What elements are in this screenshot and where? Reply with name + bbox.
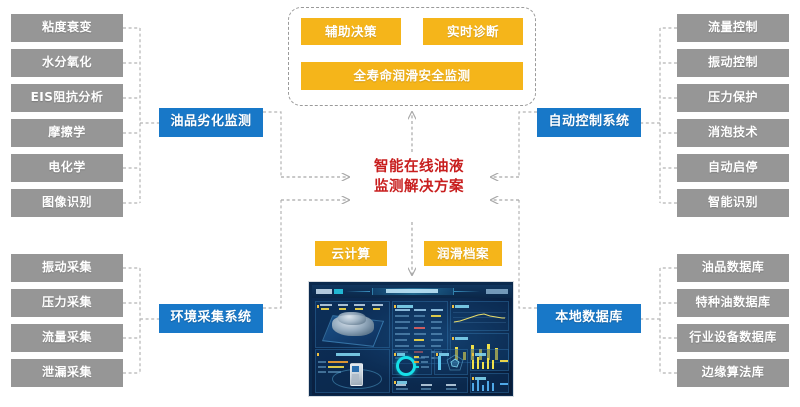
leaf-label: 水分氧化 xyxy=(42,56,92,69)
leaf-intelligent-recognition[interactable]: 智能识别 xyxy=(677,189,789,217)
radar-chart xyxy=(445,354,465,372)
leaf-label: 自动启停 xyxy=(708,161,758,174)
leaf-label: 泄漏采集 xyxy=(42,366,92,379)
chip-label: 实时诊断 xyxy=(447,25,499,39)
leaf-label: 流量采集 xyxy=(42,331,92,344)
summary-stats-values xyxy=(396,384,464,391)
leaf-label: 消泡技术 xyxy=(708,126,758,139)
leaf-industry-equipment-database[interactable]: 行业设备数据库 xyxy=(677,324,789,352)
leaf-label: 行业设备数据库 xyxy=(689,331,777,344)
chip-label: 全寿命润滑安全监测 xyxy=(353,69,470,83)
vertical-gauge-bar xyxy=(438,356,441,370)
hub-label: 本地数据库 xyxy=(555,311,623,325)
hub-label: 自动控制系统 xyxy=(548,115,629,129)
leaf-label: EIS阻抗分析 xyxy=(31,91,104,104)
leaf-tribology[interactable]: 摩擦学 xyxy=(11,119,123,147)
diagram-canvas: 辅助决策 实时诊断 全寿命润滑安全监测 智能在线油液 监测解决方案 云计算 润滑… xyxy=(0,0,800,407)
blue-bar-chart xyxy=(472,379,498,391)
leaf-label: 振动采集 xyxy=(42,261,92,274)
leaf-viscosity-decay[interactable]: 粘度衰变 xyxy=(11,14,123,42)
leaf-label: 油品数据库 xyxy=(702,261,765,274)
dashboard-canvas xyxy=(312,285,512,395)
dashboard-header-rule-left xyxy=(346,291,370,292)
dashboard-logo xyxy=(316,289,332,294)
hub-label: 油品劣化监测 xyxy=(170,115,251,129)
yellow-bar-chart-2 xyxy=(472,356,498,369)
chip-lubrication-archive[interactable]: 润滑档案 xyxy=(424,241,502,266)
leaf-vibration-control[interactable]: 振动控制 xyxy=(677,49,789,77)
leaf-electrochemistry[interactable]: 电化学 xyxy=(11,154,123,182)
donut-legend xyxy=(414,356,430,371)
chip-decision-support[interactable]: 辅助决策 xyxy=(301,18,401,45)
dashboard-title-text xyxy=(386,289,438,293)
solution-title: 智能在线油液 监测解决方案 xyxy=(355,158,483,197)
leaf-label: 电化学 xyxy=(48,161,86,174)
yellow-bar-chart-2-readout xyxy=(500,360,508,362)
engine-3d-model-detail xyxy=(338,312,366,325)
dashboard-logo-accent xyxy=(334,289,343,294)
leaf-label: 图像识别 xyxy=(42,196,92,209)
hub-environment-acquisition[interactable]: 环境采集系统 xyxy=(159,304,263,333)
dashboard-user-chip xyxy=(486,289,508,294)
trend-line-series xyxy=(453,308,506,329)
leaf-moisture-oxidation[interactable]: 水分氧化 xyxy=(11,49,123,77)
leaf-label: 特种油数据库 xyxy=(695,296,770,309)
chip-label: 辅助决策 xyxy=(325,25,377,39)
leaf-label: 振动控制 xyxy=(708,56,758,69)
leaf-label: 智能识别 xyxy=(708,196,758,209)
leaf-label: 边缘算法库 xyxy=(702,366,765,379)
leaf-eis-impedance-analysis[interactable]: EIS阻抗分析 xyxy=(11,84,123,112)
chip-realtime-diagnosis[interactable]: 实时诊断 xyxy=(423,18,523,45)
blue-bar-chart-readout xyxy=(500,383,508,385)
leaf-pressure-protection[interactable]: 压力保护 xyxy=(677,84,789,112)
leaf-vibration-acquisition[interactable]: 振动采集 xyxy=(11,254,123,282)
leaf-image-recognition[interactable]: 图像识别 xyxy=(11,189,123,217)
panel-marker xyxy=(317,353,319,356)
chip-full-life-lubrication-safety-monitoring[interactable]: 全寿命润滑安全监测 xyxy=(301,62,523,90)
chip-label: 润滑档案 xyxy=(437,247,489,261)
leaf-label: 摩擦学 xyxy=(48,126,86,139)
hub-local-database[interactable]: 本地数据库 xyxy=(537,304,641,333)
hub-oil-degradation[interactable]: 油品劣化监测 xyxy=(159,108,263,137)
leaf-edge-algorithm-library[interactable]: 边缘算法库 xyxy=(677,359,789,387)
solution-title-line-1: 智能在线油液 xyxy=(355,158,483,178)
leaf-label: 流量控制 xyxy=(708,21,758,34)
leaf-label: 压力保护 xyxy=(708,91,758,104)
leaf-oil-database[interactable]: 油品数据库 xyxy=(677,254,789,282)
handheld-analyzer-keys xyxy=(352,374,359,381)
leaf-auto-start-stop[interactable]: 自动启停 xyxy=(677,154,789,182)
chip-label: 云计算 xyxy=(331,247,370,261)
leaf-label: 粘度衰变 xyxy=(42,21,92,34)
leaf-flow-acquisition[interactable]: 流量采集 xyxy=(11,324,123,352)
panel-title xyxy=(397,305,413,308)
leaf-flow-control[interactable]: 流量控制 xyxy=(677,14,789,42)
kpi-strip xyxy=(318,304,387,311)
dashboard-header-rule-right xyxy=(454,291,480,292)
leaf-label: 压力采集 xyxy=(42,296,92,309)
donut-gauge xyxy=(396,356,416,376)
trend-line-chart xyxy=(453,308,506,329)
panel-title xyxy=(336,353,360,356)
panel-marker xyxy=(394,353,396,356)
hub-label: 环境采集系统 xyxy=(170,311,251,325)
leaf-specialty-oil-database[interactable]: 特种油数据库 xyxy=(677,289,789,317)
panel-marker xyxy=(394,305,396,308)
hub-auto-control[interactable]: 自动控制系统 xyxy=(537,108,641,137)
leaf-leak-acquisition[interactable]: 泄漏采集 xyxy=(11,359,123,387)
leaf-pressure-acquisition[interactable]: 压力采集 xyxy=(11,289,123,317)
leaf-defoaming-technology[interactable]: 消泡技术 xyxy=(677,119,789,147)
chip-cloud-computing[interactable]: 云计算 xyxy=(315,241,387,266)
monitoring-dashboard-screenshot xyxy=(308,281,514,397)
handheld-analyzer-screen xyxy=(352,366,359,372)
solution-title-line-2: 监测解决方案 xyxy=(355,178,483,198)
